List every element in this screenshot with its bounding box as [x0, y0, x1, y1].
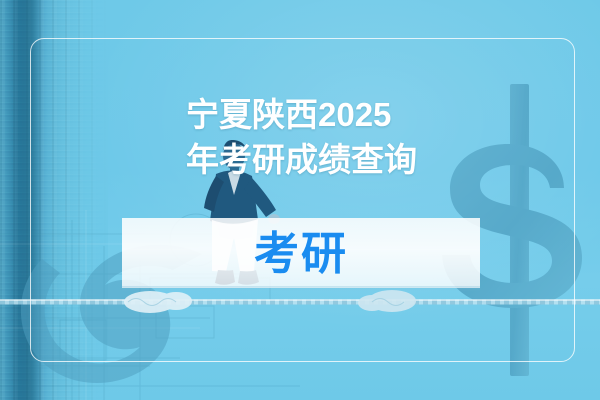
promo-banner: 宁夏陕西2025 年考研成绩查询 考研 — [0, 0, 600, 400]
headline-title: 宁夏陕西2025 年考研成绩查询 — [186, 92, 486, 182]
headline-line-1: 宁夏陕西2025 — [186, 92, 486, 137]
keyword-label: 考研 — [122, 218, 480, 288]
headline-line-2: 年考研成绩查询 — [186, 137, 486, 182]
